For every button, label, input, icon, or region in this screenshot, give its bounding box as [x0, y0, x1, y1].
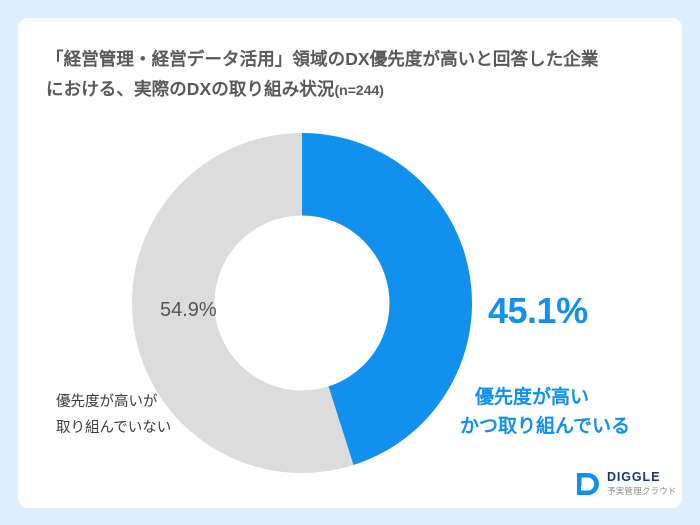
chart-title-line-1: 「経営管理・経営データ活用」領域のDX優先度が高いと回答した企業 [46, 44, 666, 74]
donut-slice-blue[interactable] [302, 133, 472, 465]
chart-sample-size: (n=244) [335, 82, 384, 98]
chart-title-block: 「経営管理・経営データ活用」領域のDX優先度が高いと回答した企業 における、実際… [46, 44, 666, 105]
gray-slice-percent-label: 54.9% [160, 299, 217, 322]
blue-category-line-2: かつ取り組んでいる [460, 412, 630, 441]
gray-slice-category-label: 優先度が高いが 取り組んでいない [56, 389, 171, 441]
chart-title-line-2-text: における、実際のDXの取り組み状況 [46, 79, 335, 99]
blue-slice-percent-label: 45.1% [488, 290, 588, 332]
donut-center-hole [215, 216, 390, 391]
blue-slice-category-label: 優先度が高い かつ取り組んでいる [475, 383, 630, 441]
diggle-logo-text: DIGGLE 予実管理クラウド [607, 470, 677, 497]
diggle-d-barchart-icon [575, 471, 601, 497]
donut-chart [132, 133, 472, 473]
diggle-logo: DIGGLE 予実管理クラウド [575, 470, 677, 497]
chart-page: 「経営管理・経営データ活用」領域のDX優先度が高いと回答した企業 における、実際… [0, 0, 700, 525]
diggle-wordmark: DIGGLE [607, 470, 677, 484]
gray-category-line-1: 優先度が高いが [56, 389, 171, 415]
diggle-tagline: 予実管理クラウド [607, 485, 677, 497]
blue-category-line-1: 優先度が高い [475, 383, 630, 412]
chart-title-line-2: における、実際のDXの取り組み状況(n=244) [46, 74, 666, 105]
donut-slice-gray[interactable] [132, 133, 354, 473]
gray-category-line-2: 取り組んでいない [56, 415, 171, 441]
chart-card: 「経営管理・経営データ活用」領域のDX優先度が高いと回答した企業 における、実際… [18, 18, 682, 508]
